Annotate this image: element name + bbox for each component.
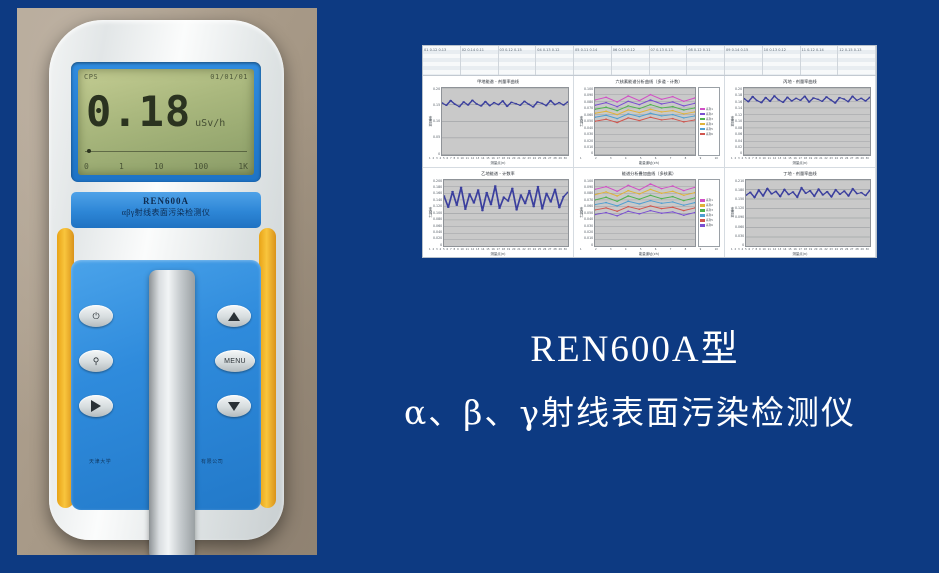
chart-y-axis-label: 剂量率 xyxy=(427,116,432,127)
chart-x-axis-label: 测量点(n) xyxy=(427,160,569,165)
chart-legend-label: 系列3 xyxy=(706,208,713,212)
data-table-cell[interactable]: 07 0.13 0.13 xyxy=(650,46,688,75)
chart-legend-label: 系列6 xyxy=(706,223,713,227)
data-table-cell[interactable]: 01 0.12 0.13 xyxy=(423,46,461,75)
play-icon xyxy=(91,400,101,412)
product-title-line1: REN600A型 xyxy=(340,318,930,372)
chart-legend-item: 系列4 xyxy=(700,122,718,126)
chart-y-tick: 0.180 xyxy=(433,185,442,189)
play-button[interactable] xyxy=(79,395,113,417)
chart-legend-label: 系列5 xyxy=(706,127,713,131)
chart-legend-item: 系列1 xyxy=(700,198,718,202)
chart-y-ticks: 0.1000.0900.0800.0700.0600.0500.0400.030… xyxy=(584,87,594,156)
chart-x-axis-label: 测量点(n) xyxy=(427,251,569,256)
chart-y-tick: 0.16 xyxy=(735,100,742,104)
chart-y-ticks: 0.200.180.160.140.120.100.080.060.040.02… xyxy=(735,87,743,156)
device-footer-right: 有限公司 xyxy=(201,458,223,465)
chart-y-tick: 0 xyxy=(433,243,442,247)
chart-plot-area xyxy=(441,87,569,156)
chart-legend-swatch xyxy=(700,204,705,207)
chart-y-tick: 0.12 xyxy=(735,113,742,117)
grip-right xyxy=(259,228,276,508)
data-table-header: 01 0.12 0.1302 0.14 0.1103 0.12 0.1504 0… xyxy=(423,46,876,76)
chart-legend-label: 系列2 xyxy=(706,203,713,207)
chart-y-ticks: 0.2000.1800.1600.1400.1200.1000.0800.060… xyxy=(433,179,443,248)
chevron-down-icon xyxy=(228,402,240,411)
chart-title: 能谱分析叠加曲线（多核素） xyxy=(578,171,720,177)
chart-grid: 甲地能谱 - 剂量率曲线剂量率0.200.150.100.05012345678… xyxy=(423,76,876,258)
chart-panel[interactable]: 能谱分析叠加曲线（多核素）计数率0.1000.0900.0800.0700.06… xyxy=(574,168,725,259)
menu-button-label: MENU xyxy=(224,358,246,365)
power-button[interactable]: ⏻ xyxy=(79,305,113,327)
product-photo: CPS 01/01/01 0.18 uSv/h 0 1 10 100 1K xyxy=(17,8,317,555)
chart-y-tick: 0.20 xyxy=(735,87,742,91)
device-label-plate: REN600A αβγ射线表面污染检测仪 xyxy=(71,192,261,228)
chart-y-tick: 0.030 xyxy=(584,224,593,228)
chart-legend-swatch xyxy=(700,133,705,136)
chart-legend-item: 系列3 xyxy=(700,208,718,212)
chart-legend-item: 系列2 xyxy=(700,112,718,116)
lcd-status-row: CPS 01/01/01 xyxy=(84,73,248,81)
chart-legend-item: 系列1 xyxy=(700,107,718,111)
chart-title: 六核素能谱分析曲线（多道 - 计数） xyxy=(578,79,720,85)
menu-button[interactable]: MENU xyxy=(215,350,255,372)
chart-y-axis-label: 计数率 xyxy=(578,207,583,218)
chart-legend-swatch xyxy=(700,209,705,212)
chart-y-tick: 0.120 xyxy=(735,206,744,210)
data-table-cell[interactable]: 10 0.13 0.12 xyxy=(763,46,801,75)
chart-y-tick: 0.100 xyxy=(433,211,442,215)
chart-panel[interactable]: 丁地 - 剂量率曲线剂量率0.2100.1800.1500.1200.0900.… xyxy=(725,168,876,259)
chart-y-tick: 0.02 xyxy=(735,145,742,149)
chart-y-tick: 0.200 xyxy=(433,179,442,183)
light-icon: ⚲ xyxy=(93,356,100,367)
chart-legend-item: 系列5 xyxy=(700,127,718,131)
chart-panel[interactable]: 六核素能谱分析曲线（多道 - 计数）计数率0.1000.0900.0800.07… xyxy=(574,76,725,168)
chart-legend: 系列1系列2系列3系列4系列5系列6 xyxy=(698,87,720,156)
device-subtitle-label: αβγ射线表面污染检测仪 xyxy=(71,207,261,218)
lcd-bezel: CPS 01/01/01 0.18 uSv/h 0 1 10 100 1K xyxy=(71,62,261,182)
chart-y-tick: 0.080 xyxy=(584,191,593,195)
chart-y-tick: 0.050 xyxy=(584,119,593,123)
chart-y-tick: 0.150 xyxy=(735,197,744,201)
chart-legend-swatch xyxy=(700,113,705,116)
data-table-cell[interactable]: 09 0.14 0.15 xyxy=(725,46,763,75)
lcd-status-right: 01/01/01 xyxy=(210,73,248,81)
chart-legend-item: 系列6 xyxy=(700,132,718,136)
chart-title: 甲地能谱 - 剂量率曲线 xyxy=(427,79,569,85)
data-table-cell[interactable]: 05 0.11 0.14 xyxy=(574,46,612,75)
chart-y-tick: 0.090 xyxy=(584,93,593,97)
chart-y-tick: 0.030 xyxy=(584,132,593,136)
chart-y-tick: 0.10 xyxy=(433,119,440,123)
chart-title: 丁地 - 剂量率曲线 xyxy=(729,171,871,177)
lcd-reading: 0.18 uSv/h xyxy=(86,93,225,132)
lcd-scale: 0 1 10 100 1K xyxy=(84,162,248,171)
chart-plot-area xyxy=(594,87,696,156)
chart-y-tick: 0.030 xyxy=(735,234,744,238)
chart-y-tick: 0.120 xyxy=(433,204,442,208)
light-button[interactable]: ⚲ xyxy=(79,350,113,372)
chart-y-tick: 0.070 xyxy=(584,198,593,202)
chart-y-tick: 0 xyxy=(584,243,593,247)
chevron-up-icon xyxy=(228,312,240,321)
chart-legend-swatch xyxy=(700,128,705,131)
lcd-scale-tick: 1 xyxy=(119,162,124,171)
chart-y-tick: 0.040 xyxy=(584,126,593,130)
data-table-cell[interactable]: 08 0.12 0.11 xyxy=(687,46,725,75)
product-title-line2: α、β、γ射线表面污染检测仪 xyxy=(330,386,930,434)
chart-y-tick: 0.04 xyxy=(735,139,742,143)
chart-y-tick: 0 xyxy=(735,243,744,247)
chart-y-tick: 0.18 xyxy=(735,93,742,97)
lcd-screen: CPS 01/01/01 0.18 uSv/h 0 1 10 100 1K xyxy=(78,69,254,175)
chart-y-tick: 0.080 xyxy=(584,100,593,104)
chart-y-tick: 0.20 xyxy=(433,87,440,91)
chart-y-tick: 0.090 xyxy=(584,185,593,189)
down-button[interactable] xyxy=(217,395,251,417)
chart-y-tick: 0.210 xyxy=(735,179,744,183)
lcd-unit: uSv/h xyxy=(195,118,225,129)
lcd-bargraph-marker xyxy=(87,149,91,153)
chart-y-tick: 0.10 xyxy=(735,119,742,123)
chart-y-tick: 0.040 xyxy=(584,217,593,221)
chart-x-axis-label: 测量点(n) xyxy=(729,160,871,165)
chart-legend-swatch xyxy=(700,108,705,111)
chart-plot-area xyxy=(443,179,569,248)
data-table-cell[interactable]: 06 0.15 0.12 xyxy=(612,46,650,75)
chart-y-tick: 0 xyxy=(584,151,593,155)
chart-y-tick: 0.060 xyxy=(584,204,593,208)
chart-legend-label: 系列6 xyxy=(706,132,713,136)
chart-legend-label: 系列5 xyxy=(706,218,713,222)
chart-y-axis-label: 计数率 xyxy=(427,207,432,218)
chart-panel[interactable]: 甲地能谱 - 剂量率曲线剂量率0.200.150.100.05012345678… xyxy=(423,76,574,168)
chart-y-tick: 0.060 xyxy=(584,113,593,117)
chart-y-tick: 0.070 xyxy=(584,106,593,110)
chart-y-tick: 0.100 xyxy=(584,179,593,183)
lcd-status-left: CPS xyxy=(84,73,98,81)
chart-plot-area xyxy=(743,87,871,156)
chart-legend-item: 系列6 xyxy=(700,223,718,227)
chart-legend-label: 系列4 xyxy=(706,213,713,217)
data-table-cell[interactable]: 03 0.12 0.15 xyxy=(499,46,537,75)
chart-y-tick: 0.020 xyxy=(433,236,442,240)
chart-y-tick: 0.180 xyxy=(735,188,744,192)
device-footer-left: 天津大学 xyxy=(89,458,111,465)
chart-y-tick: 0.050 xyxy=(584,211,593,215)
chart-plot-area xyxy=(745,179,871,248)
chart-y-tick: 0.160 xyxy=(433,191,442,195)
lcd-value: 0.18 xyxy=(86,93,191,132)
title-block: REN600A型 α、β、γ射线表面污染检测仪 xyxy=(330,318,930,434)
chart-plot-area xyxy=(594,179,696,248)
chart-y-tick: 0.05 xyxy=(433,135,440,139)
chart-legend-item: 系列5 xyxy=(700,218,718,222)
data-table-cell[interactable]: 11 0.12 0.14 xyxy=(801,46,839,75)
chart-y-tick: 0 xyxy=(735,151,742,155)
chart-legend-label: 系列1 xyxy=(706,107,713,111)
chart-y-tick: 0.080 xyxy=(433,217,442,221)
chart-y-tick: 0.020 xyxy=(584,230,593,234)
data-table-cell[interactable]: 12 0.15 0.13 xyxy=(838,46,876,75)
chart-y-tick: 0 xyxy=(433,152,440,156)
chart-y-tick: 0.08 xyxy=(735,126,742,130)
chart-y-axis-label: 剂量率 xyxy=(729,207,734,218)
chart-y-tick: 0.100 xyxy=(584,87,593,91)
chart-y-tick: 0.090 xyxy=(735,215,744,219)
power-icon: ⏻ xyxy=(92,311,99,322)
chart-title: 乙地能谱 - 计数率 xyxy=(427,171,569,177)
chart-x-axis-label: 能量道址(ch) xyxy=(578,160,720,165)
chart-y-tick: 0.060 xyxy=(433,224,442,228)
software-screenshot-panel: 01 0.12 0.1302 0.14 0.1103 0.12 0.1504 0… xyxy=(422,45,877,258)
chart-legend-item: 系列2 xyxy=(700,203,718,207)
chart-y-tick: 0.060 xyxy=(735,225,744,229)
chart-y-tick: 0.010 xyxy=(584,145,593,149)
chart-legend-swatch xyxy=(700,123,705,126)
chart-y-ticks: 0.200.150.100.050 xyxy=(433,87,441,156)
chart-legend-swatch xyxy=(700,214,705,217)
chart-title: 丙地 - 剂量率曲线 xyxy=(729,79,871,85)
data-table-cell[interactable]: 04 0.13 0.12 xyxy=(536,46,574,75)
lcd-scale-tick: 1K xyxy=(238,162,248,171)
up-button[interactable] xyxy=(217,305,251,327)
chart-y-tick: 0.020 xyxy=(584,139,593,143)
chart-panel[interactable]: 丙地 - 剂量率曲线剂量率0.200.180.160.140.120.100.0… xyxy=(725,76,876,168)
chart-y-ticks: 0.1000.0900.0800.0700.0600.0500.0400.030… xyxy=(584,179,594,248)
chart-legend-label: 系列1 xyxy=(706,198,713,202)
chart-legend-swatch xyxy=(700,199,705,202)
chart-legend-item: 系列3 xyxy=(700,117,718,121)
chart-x-axis-label: 能量道址(ch) xyxy=(578,251,720,256)
chart-legend-label: 系列4 xyxy=(706,122,713,126)
chart-y-axis-label: 计数率 xyxy=(578,116,583,127)
chart-y-tick: 0.010 xyxy=(584,236,593,240)
chart-y-axis-label: 剂量率 xyxy=(729,116,734,127)
chart-legend-label: 系列3 xyxy=(706,117,713,121)
chart-legend: 系列1系列2系列3系列4系列5系列6 xyxy=(698,179,720,248)
chart-legend-item: 系列4 xyxy=(700,213,718,217)
lcd-bargraph xyxy=(85,151,247,155)
radiation-detector-device: CPS 01/01/01 0.18 uSv/h 0 1 10 100 1K xyxy=(49,20,284,540)
chart-y-tick: 0.15 xyxy=(433,103,440,107)
chart-y-ticks: 0.2100.1800.1500.1200.0900.0600.0300 xyxy=(735,179,745,248)
chart-y-tick: 0.040 xyxy=(433,230,442,234)
device-model-label: REN600A xyxy=(71,196,261,206)
lcd-scale-tick: 0 xyxy=(84,162,89,171)
chart-x-axis-label: 测量点(n) xyxy=(729,251,871,256)
chart-y-tick: 0.14 xyxy=(735,106,742,110)
data-table-cell[interactable]: 02 0.14 0.11 xyxy=(461,46,499,75)
lcd-scale-tick: 10 xyxy=(154,162,164,171)
device-handle xyxy=(149,270,195,555)
chart-panel[interactable]: 乙地能谱 - 计数率计数率0.2000.1800.1600.1400.1200.… xyxy=(423,168,574,259)
chart-legend-swatch xyxy=(700,224,705,227)
lcd-scale-tick: 100 xyxy=(194,162,208,171)
chart-y-tick: 0.06 xyxy=(735,132,742,136)
chart-legend-swatch xyxy=(700,118,705,121)
chart-legend-label: 系列2 xyxy=(706,112,713,116)
chart-y-tick: 0.140 xyxy=(433,198,442,202)
chart-legend-swatch xyxy=(700,219,705,222)
